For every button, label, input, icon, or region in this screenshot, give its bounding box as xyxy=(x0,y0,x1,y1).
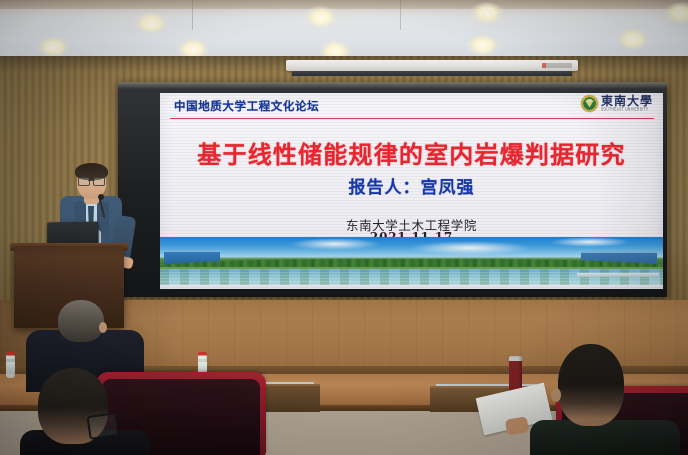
cloud-shape xyxy=(550,237,630,247)
audience-ear xyxy=(99,322,107,333)
ceiling-downlight-icon xyxy=(304,6,338,28)
campus-bridge xyxy=(577,273,659,277)
university-name-block: 東南大學 SOUTHEAST UNIVERSITY xyxy=(601,95,653,111)
display-bezel-highlight xyxy=(118,82,667,89)
audience-ear xyxy=(551,388,561,402)
ceiling-downlight-icon xyxy=(134,12,168,34)
housing-brand-label xyxy=(542,63,572,68)
slide-presenter-line: 报告人：宫凤强 xyxy=(160,173,663,198)
bottle-label xyxy=(6,362,15,371)
audience-hand xyxy=(505,416,529,436)
glasses-lens-left xyxy=(78,177,90,186)
audience-glasses-icon xyxy=(86,412,119,440)
slide-main-title: 基于线性储能规律的室内岩爆判据研究 xyxy=(160,135,663,170)
presentation-slide[interactable]: 中国地质大学工程文化论坛 東南大學 SOUTHEAST UNIVERSITY 基… xyxy=(160,93,663,289)
projector-screen-lip xyxy=(292,71,572,76)
projector-screen-housing xyxy=(286,60,578,71)
water-bottle[interactable] xyxy=(6,352,15,378)
audience-member-back-left-head xyxy=(58,300,104,342)
forum-banner-title: 中国地质大学工程文化论坛 xyxy=(174,98,319,114)
audience-member-right-head xyxy=(558,344,624,426)
glasses-lens-right xyxy=(93,177,105,186)
speaker-glasses-icon xyxy=(78,177,105,184)
university-logo: 東南大學 SOUTHEAST UNIVERSITY xyxy=(581,95,653,112)
slide-header-divider xyxy=(170,118,654,119)
ceiling-seam xyxy=(192,0,193,30)
bottle-label xyxy=(198,362,207,371)
slide-header: 中国地质大学工程文化论坛 東南大學 SOUTHEAST UNIVERSITY xyxy=(160,96,663,118)
ceiling-downlight-icon xyxy=(470,2,504,24)
microphone-icon xyxy=(98,194,104,200)
southeast-university-emblem-icon xyxy=(581,95,598,112)
cloud-shape xyxy=(410,241,530,255)
ceiling-seam xyxy=(400,0,401,30)
lecture-hall-photo: 中国地质大学工程文化论坛 東南大學 SOUTHEAST UNIVERSITY 基… xyxy=(0,0,688,455)
ceiling-edge-strip xyxy=(0,0,688,9)
audience-member-right-body xyxy=(530,420,680,455)
campus-lake-reflection xyxy=(160,269,663,285)
university-name-cn: 東南大學 xyxy=(601,95,653,107)
ceiling-downlight-icon xyxy=(616,28,650,50)
ceiling-downlight-icon xyxy=(466,34,500,56)
campus-panorama-photo xyxy=(160,237,663,285)
university-name-en: SOUTHEAST UNIVERSITY xyxy=(601,108,653,112)
cloud-shape xyxy=(290,238,380,250)
ceiling-downlight-icon xyxy=(36,36,70,58)
